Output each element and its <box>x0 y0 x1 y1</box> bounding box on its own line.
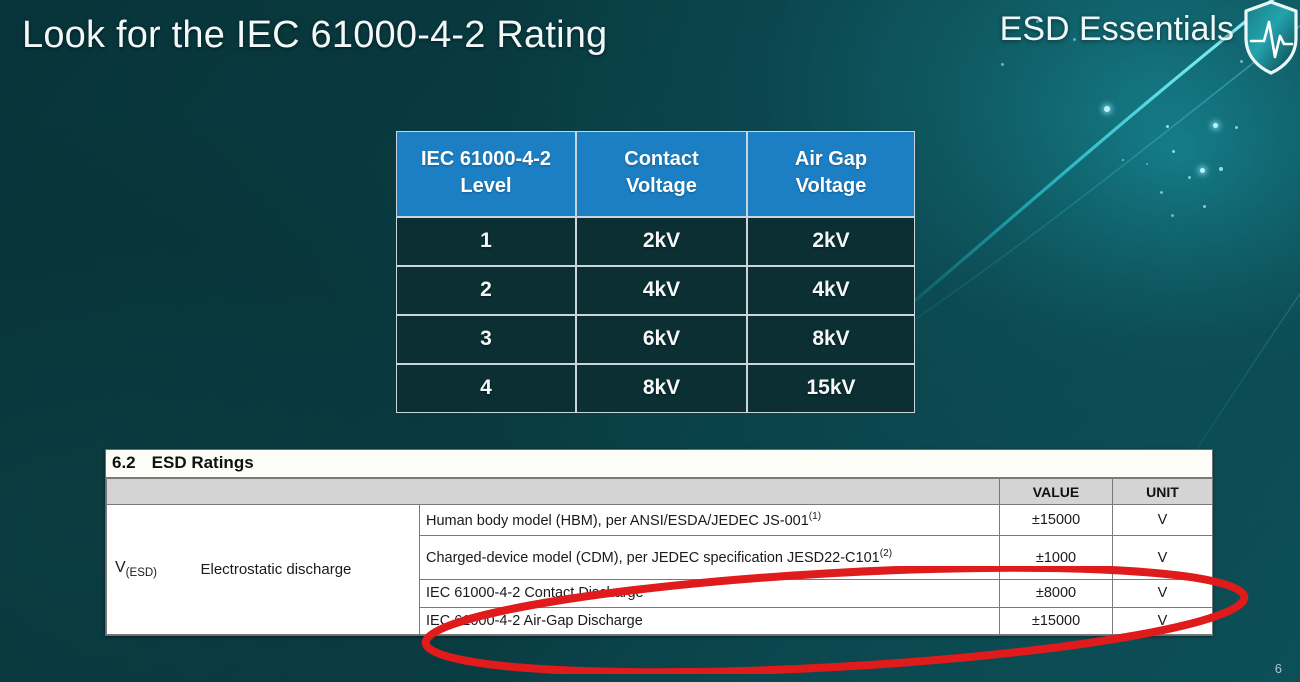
table-row: 2 4kV 4kV <box>396 266 915 315</box>
sparkle-dot <box>1188 176 1191 179</box>
column-header-unit: UNIT <box>1113 479 1213 505</box>
sparkle-dot <box>1160 191 1163 194</box>
cell-symbol: V(ESD) <box>107 505 195 635</box>
footnote-marker: (1) <box>809 511 821 522</box>
cell-level: 1 <box>396 217 576 266</box>
column-header-value: VALUE <box>1000 479 1113 505</box>
column-header-level: IEC 61000-4-2 Level <box>396 131 576 217</box>
column-header-parameter <box>195 479 420 505</box>
page-number: 6 <box>1275 661 1282 676</box>
sparkle-dot <box>1104 106 1110 112</box>
cell-level: 2 <box>396 266 576 315</box>
sparkle-dot <box>1172 150 1175 153</box>
cell-description: IEC 61000-4-2 Contact Discharge <box>420 580 1000 608</box>
sparkle-dot <box>1203 205 1206 208</box>
brand-name: ESD Essentials <box>1000 10 1234 49</box>
datasheet-section-heading: 6.2 ESD Ratings <box>106 450 1212 478</box>
page-title: Look for the IEC 61000-4-2 Rating <box>22 14 607 57</box>
sparkle-dot <box>1166 125 1169 128</box>
iec-level-table: IEC 61000-4-2 Level Contact Voltage Air … <box>396 131 915 413</box>
sparkle-dot <box>1122 159 1124 161</box>
cell-contact: 8kV <box>576 364 747 413</box>
cell-unit: V <box>1113 505 1213 536</box>
cell-contact: 4kV <box>576 266 747 315</box>
cell-unit: V <box>1113 607 1213 635</box>
table-row: 1 2kV 2kV <box>396 217 915 266</box>
sparkle-dot <box>1171 214 1174 217</box>
sparkle-dot <box>1200 168 1205 173</box>
table-row: V(ESD) Electrostatic discharge Human bod… <box>107 505 1213 536</box>
cell-airgap: 2kV <box>747 217 915 266</box>
cell-description: Charged-device model (CDM), per JEDEC sp… <box>420 536 1000 580</box>
footnote-marker: (2) <box>880 548 892 559</box>
cell-level: 3 <box>396 315 576 364</box>
cell-parameter: Electrostatic discharge <box>195 505 420 635</box>
table-row: 4 8kV 15kV <box>396 364 915 413</box>
cell-unit: V <box>1113 580 1213 608</box>
brand-lockup: ESD Essentials <box>1000 10 1234 49</box>
column-header-air-gap-voltage: Air Gap Voltage <box>747 131 915 217</box>
cell-contact: 6kV <box>576 315 747 364</box>
section-number: 6.2 <box>112 453 136 473</box>
cell-value: ±15000 <box>1000 607 1113 635</box>
symbol-subscript: (ESD) <box>126 568 157 580</box>
cell-description: Human body model (HBM), per ANSI/ESDA/JE… <box>420 505 1000 536</box>
datasheet-excerpt: 6.2 ESD Ratings VALUE UNIT V(ESD) <box>105 449 1213 636</box>
cell-unit: V <box>1113 536 1213 580</box>
cell-value: ±1000 <box>1000 536 1113 580</box>
cell-description: IEC 61000-4-2 Air-Gap Discharge <box>420 607 1000 635</box>
cell-value: ±8000 <box>1000 580 1113 608</box>
cell-airgap: 8kV <box>747 315 915 364</box>
esd-ratings-table: VALUE UNIT V(ESD) Electrostatic discharg… <box>106 478 1213 635</box>
cell-level: 4 <box>396 364 576 413</box>
table-row: 3 6kV 8kV <box>396 315 915 364</box>
section-title: ESD Ratings <box>152 453 254 473</box>
cell-contact: 2kV <box>576 217 747 266</box>
slide-canvas: Look for the IEC 61000-4-2 Rating ESD Es… <box>0 0 1300 682</box>
shield-waveform-icon <box>1242 0 1300 76</box>
table-header-row: IEC 61000-4-2 Level Contact Voltage Air … <box>396 131 915 217</box>
table-header-row: VALUE UNIT <box>107 479 1213 505</box>
sparkle-dot <box>1235 126 1238 129</box>
column-header-contact-voltage: Contact Voltage <box>576 131 747 217</box>
sparkle-dot <box>1213 123 1218 128</box>
sparkle-dot <box>1219 167 1223 171</box>
sparkle-dot <box>1146 163 1148 165</box>
cell-airgap: 4kV <box>747 266 915 315</box>
cell-value: ±15000 <box>1000 505 1113 536</box>
cell-airgap: 15kV <box>747 364 915 413</box>
sparkle-dot <box>1001 63 1004 66</box>
column-header-description <box>420 479 1000 505</box>
column-header-symbol <box>107 479 195 505</box>
